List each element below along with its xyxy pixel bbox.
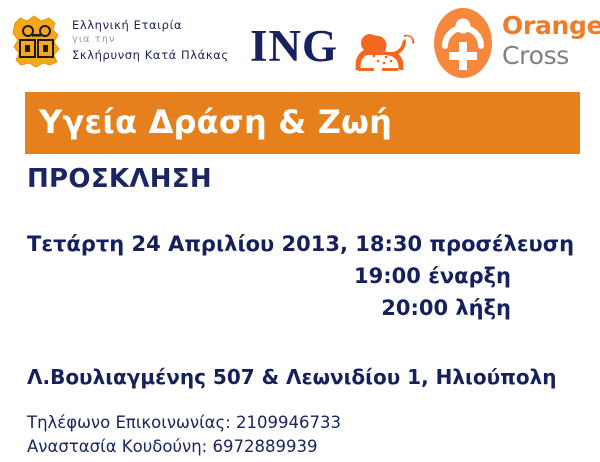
society-name-text: Ελληνική Εταιρία για την Σκλήρυνση Κατά … (72, 17, 237, 63)
contact-phone-line: Τηλέφωνο Επικοινωνίας: 2109946733 (27, 411, 341, 435)
ing-logo: ING (250, 22, 425, 80)
contact-person-line: Αναστασία Κουδούνη: 6972889939 (27, 435, 341, 459)
two-figures-shield-icon (10, 13, 64, 71)
ing-wordmark: ING (250, 22, 338, 70)
orange-cross-word-cross: Cross (502, 40, 600, 71)
title-banner: Υγεία Δράση & Ζωή (25, 92, 580, 154)
orange-cross-word-orange: Orange (502, 11, 600, 40)
ing-lion-icon (348, 26, 420, 76)
greek-ms-society-logo: Ελληνική Εταιρία για την Σκλήρυνση Κατά … (10, 13, 234, 77)
orange-cross-person-icon (432, 6, 494, 80)
schedule-block: Τετάρτη 24 Απριλίου 2013, 18:30 προσέλευ… (27, 228, 579, 324)
schedule-line-end: 20:00 λήξη (27, 292, 579, 324)
schedule-line-arrival: Τετάρτη 24 Απριλίου 2013, 18:30 προσέλευ… (27, 228, 579, 260)
society-name-line2: για την (72, 33, 237, 47)
venue-address: Λ.Βουλιαγμένης 507 & Λεωνιδίου 1, Ηλιούπ… (27, 363, 557, 391)
orange-cross-wordmark: Orange Cross (502, 11, 600, 71)
banner-title: Υγεία Δράση & Ζωή (39, 98, 392, 146)
contact-block: Τηλέφωνο Επικοινωνίας: 2109946733 Αναστα… (27, 411, 341, 459)
logo-header-strip: Ελληνική Εταιρία για την Σκλήρυνση Κατά … (0, 0, 600, 92)
schedule-line-start: 19:00 έναρξη (27, 260, 579, 292)
invitation-heading: ΠΡΟΣΚΛΗΣΗ (27, 163, 212, 195)
society-name-line3: Σκλήρυνση Κατά Πλάκας (72, 47, 237, 63)
orange-cross-logo: Orange Cross (432, 4, 592, 86)
society-name-line1: Ελληνική Εταιρία (72, 17, 237, 33)
